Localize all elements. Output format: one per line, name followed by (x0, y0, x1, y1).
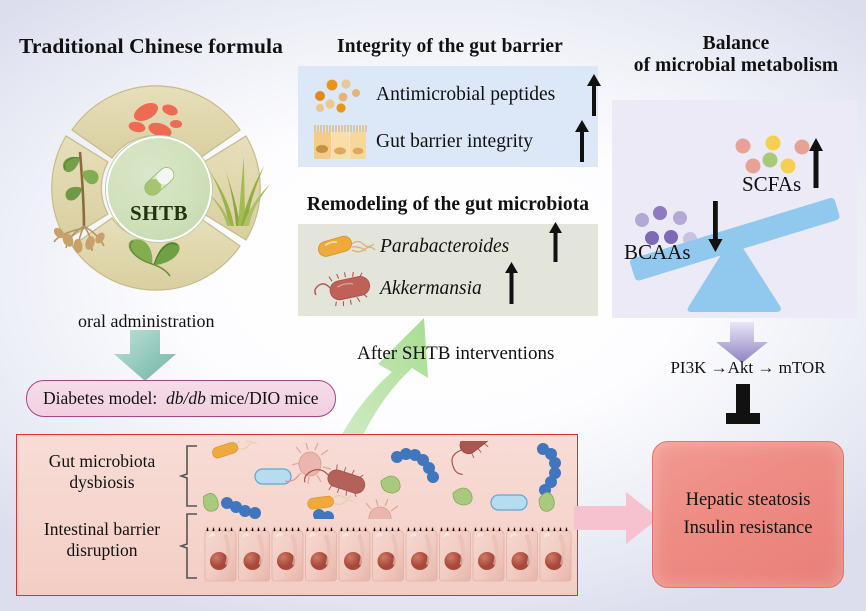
formula-core-circle: SHTB (106, 136, 212, 242)
diabetes-model-prefix: Diabetes model: (43, 388, 157, 408)
gut-microbiota-panel: Parabacteroides Akkermansia (298, 224, 598, 316)
epithelial-cells-icon (308, 122, 370, 162)
up-arrow-icon (548, 220, 563, 264)
disruption-line1: Intestinal barrier (27, 519, 177, 540)
diabetes-model-rest: mice/DIO mice (206, 388, 319, 408)
pink-right-arrow-icon (574, 490, 660, 546)
up-arrow-icon (586, 72, 602, 118)
capsule-pill-icon (134, 156, 184, 206)
label-bcaas: BCAAs (624, 240, 691, 265)
diabetes-model-italic: db/db (166, 388, 206, 408)
label-intestinal-barrier-disruption: Intestinal barrier disruption (27, 519, 177, 560)
pink-spiky-bacterium (285, 443, 331, 484)
pi3k-akt-mtor-pathway: PI3K →Akt → mTOR (648, 358, 848, 378)
label-after-shtb-interventions: After SHTB interventions (357, 343, 554, 365)
orange-rod-bacterium (211, 441, 257, 459)
dysbiotic-microbes-illustration (203, 441, 575, 519)
title-microbial-metabolism-balance: Balance of microbial metabolism (620, 33, 852, 77)
bracket-disruption (179, 513, 199, 579)
outcome-line-hepatic-steatosis: Hepatic steatosis (686, 487, 811, 515)
up-arrow-icon (574, 118, 590, 164)
label-gut-barrier-integrity: Gut barrier integrity (376, 131, 533, 153)
scfa-dots-icon (736, 136, 810, 174)
title-balance-line1: Balance (620, 33, 852, 55)
dysbiosis-line1: Gut microbiota (27, 451, 177, 472)
antimicrobial-peptide-dots-icon (308, 74, 370, 116)
brown-rod-bacterium (440, 441, 501, 477)
blue-cocci-chain (391, 448, 439, 483)
blue-cocci-chain (221, 497, 261, 519)
row-parabacteroides: Parabacteroides (312, 230, 509, 264)
blue-cocci-chain (537, 443, 561, 496)
dysbiosis-line2: dysbiosis (27, 472, 177, 493)
figure-canvas: Traditional Chinese formula Integrity of… (0, 0, 866, 611)
gut-barrier-panel: Antimicrobial peptides (298, 66, 598, 167)
outcome-box-hepatic: Hepatic steatosis Insulin resistance (652, 441, 844, 588)
label-akkermansia: Akkermansia (380, 278, 482, 300)
dysbiosis-panel: Gut microbiota dysbiosis Intestinal barr… (16, 434, 578, 596)
up-arrow-icon (504, 260, 519, 306)
metabolism-balance-panel: SCFAs BCAAs (612, 100, 857, 318)
label-scfas: SCFAs (742, 172, 801, 197)
label-gut-microbiota-dysbiosis: Gut microbiota dysbiosis (27, 451, 177, 492)
red-rod-bacterium-icon (312, 272, 378, 306)
row-antimicrobial-peptides: Antimicrobial peptides (308, 74, 555, 116)
inhibition-tbar-icon (722, 382, 764, 428)
disruption-line2: disruption (27, 540, 177, 561)
seesaw-balance-diagram (612, 100, 857, 318)
title-gut-barrier-integrity: Integrity of the gut barrier (305, 36, 595, 58)
microvilli (206, 527, 568, 531)
title-balance-line2: of microbial metabolism (620, 55, 852, 77)
label-antimicrobial-peptides: Antimicrobial peptides (376, 84, 555, 106)
label-oral-administration: oral administration (78, 311, 214, 332)
title-traditional-chinese-formula: Traditional Chinese formula (10, 34, 292, 58)
label-parabacteroides: Parabacteroides (380, 236, 509, 258)
title-gut-microbiota-remodeling: Remodeling of the gut microbiota (298, 194, 598, 216)
up-arrow-icon (809, 138, 823, 188)
diabetes-model-badge: Diabetes model: db/db mice/DIO mice (26, 380, 336, 417)
pink-spiky-bacterium (362, 499, 398, 519)
orange-rod-bacterium-icon (312, 230, 378, 264)
row-akkermansia: Akkermansia (312, 272, 482, 306)
tcm-formula-wheel: SHTB (28, 70, 284, 306)
blue-cocci-chain (313, 509, 334, 519)
outcome-line-insulin-resistance: Insulin resistance (684, 515, 813, 543)
oral-administration-arrow-icon (110, 330, 180, 382)
row-gut-barrier-integrity: Gut barrier integrity (308, 122, 533, 162)
epithelial-cell-layer (203, 521, 575, 587)
bracket-dysbiosis (179, 445, 199, 507)
diabetes-model-text: Diabetes model: db/db mice/DIO mice (27, 388, 319, 409)
